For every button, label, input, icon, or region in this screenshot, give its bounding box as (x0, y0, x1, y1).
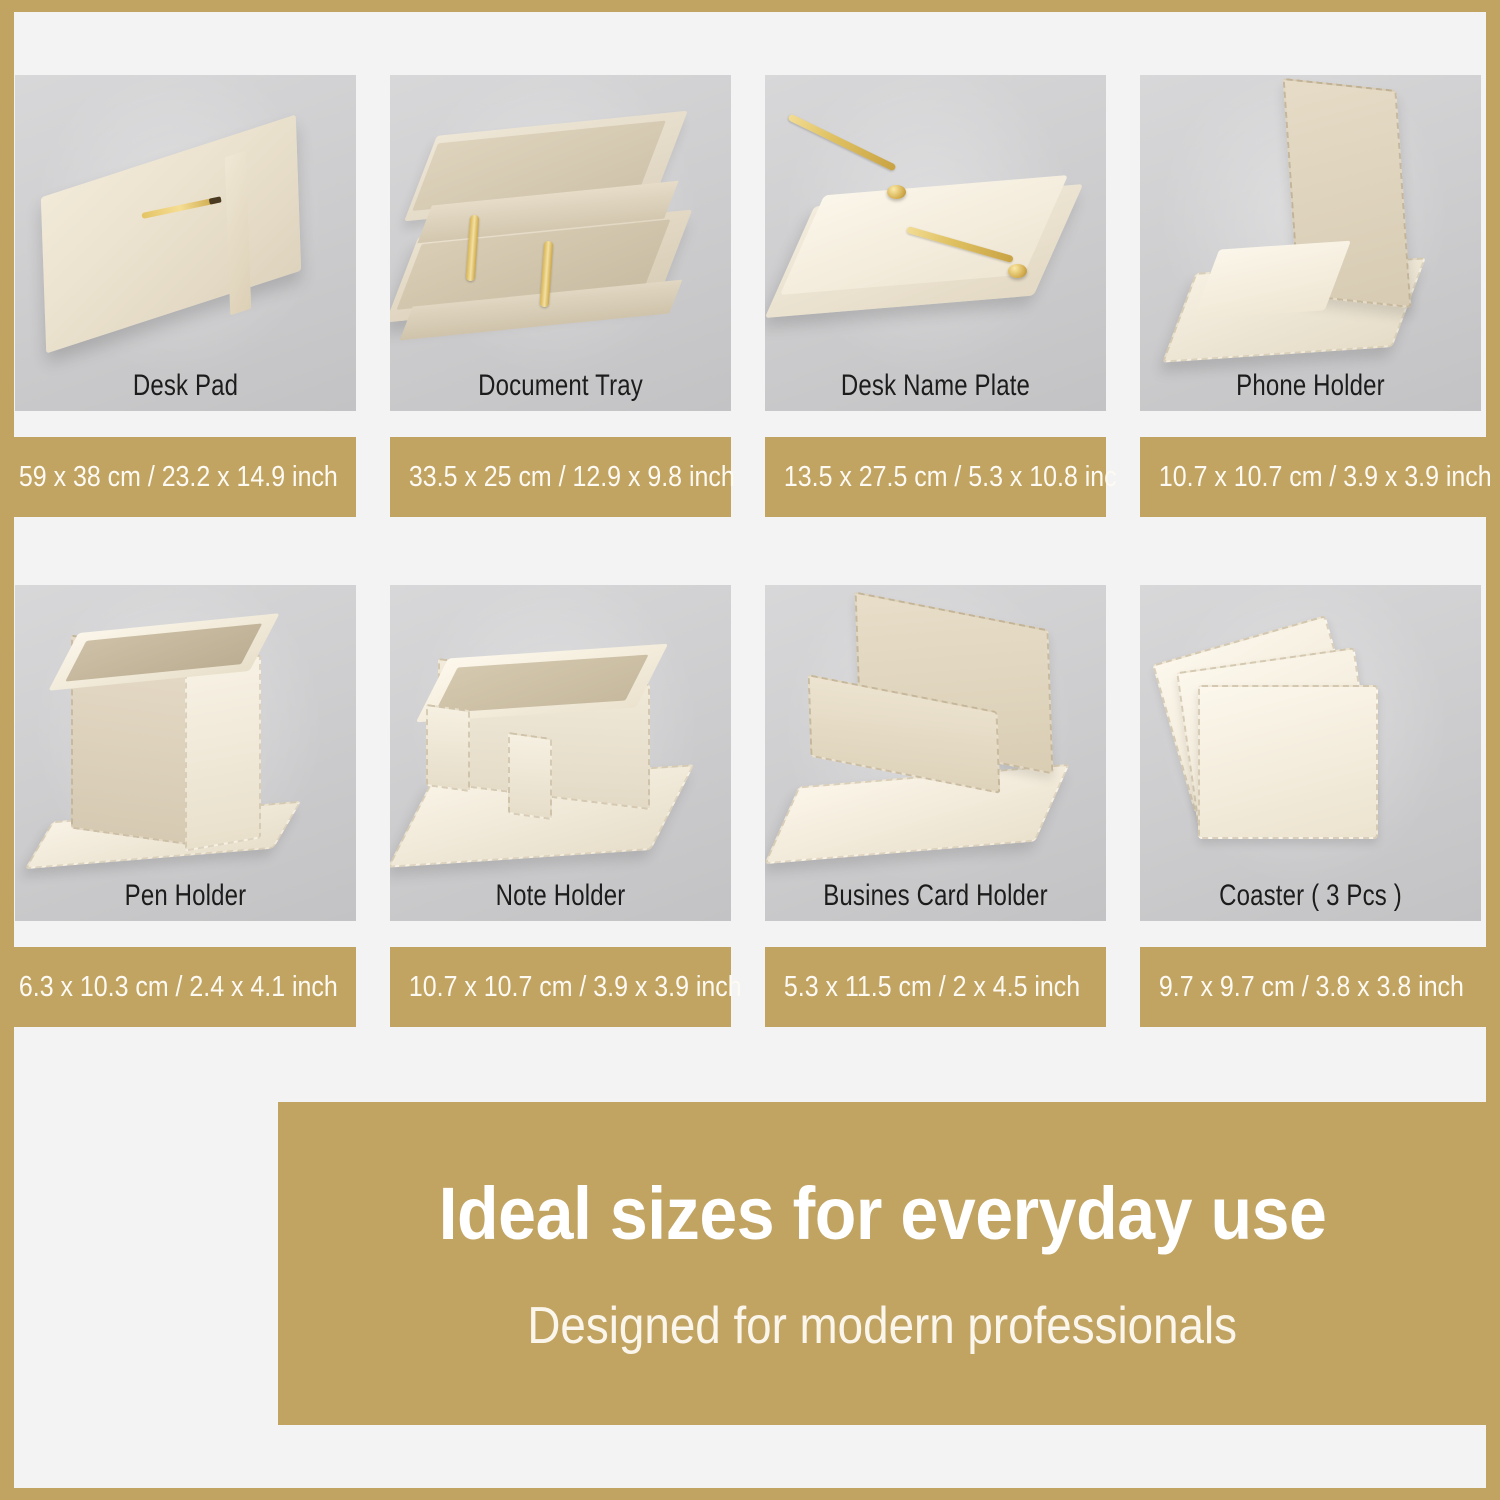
product-photo-pen-holder: Pen Holder (15, 585, 356, 921)
phone-holder-icon (1140, 75, 1481, 411)
product-size-bar-phone-holder: 10.7 x 10.7 cm / 3.9 x 3.9 inch (1140, 437, 1500, 517)
desk-pad-icon (15, 75, 356, 411)
product-size-text: 10.7 x 10.7 cm / 3.9 x 3.9 inch (390, 971, 702, 1004)
business-card-holder-icon (765, 585, 1106, 921)
product-label: Coaster ( 3 Pcs ) (1174, 879, 1447, 913)
product-label: Document Tray (424, 369, 697, 403)
product-size-text: 10.7 x 10.7 cm / 3.9 x 3.9 inch (1140, 461, 1469, 494)
product-photo-desk-pad: Desk Pad (15, 75, 356, 411)
note-holder-icon (390, 585, 731, 921)
promo-subhead: Designed for modern professionals (527, 1296, 1237, 1356)
product-size-bar-business-card-holder: 5.3 x 11.5 cm / 2 x 4.5 inch (765, 947, 1106, 1027)
product-label: Pen Holder (49, 879, 322, 913)
product-photo-coaster: Coaster ( 3 Pcs ) (1140, 585, 1481, 921)
product-photo-note-holder: Note Holder (390, 585, 731, 921)
product-size-text: 13.5 x 27.5 cm / 5.3 x 10.8 inc (765, 461, 1077, 494)
product-size-text: 33.5 x 25 cm / 12.9 x 9.8 inch (390, 461, 702, 494)
product-photo-phone-holder: Phone Holder (1140, 75, 1481, 411)
product-size-text: 5.3 x 11.5 cm / 2 x 4.5 inch (765, 971, 1077, 1004)
document-tray-icon (390, 75, 731, 411)
promo-headline: Ideal sizes for everyday use (438, 1171, 1326, 1256)
product-size-bar-note-holder: 10.7 x 10.7 cm / 3.9 x 3.9 inch (390, 947, 731, 1027)
product-label: Busines Card Holder (799, 879, 1072, 913)
product-photo-document-tray: Document Tray (390, 75, 731, 411)
product-label: Note Holder (424, 879, 697, 913)
product-size-text: 9.7 x 9.7 cm / 3.8 x 3.8 inch (1140, 971, 1464, 1004)
promo-banner: Ideal sizes for everyday use Designed fo… (278, 1102, 1486, 1425)
product-size-text: 6.3 x 10.3 cm / 2.4 x 4.1 inch (0, 971, 325, 1004)
infographic-page: Desk Pad 59 x 38 cm / 23.2 x 14.9 inch D… (0, 0, 1500, 1500)
pen-holder-icon (15, 585, 356, 921)
product-label: Phone Holder (1174, 369, 1447, 403)
product-label: Desk Pad (49, 369, 322, 403)
product-size-bar-desk-name-plate: 13.5 x 27.5 cm / 5.3 x 10.8 inc (765, 437, 1106, 517)
product-size-bar-coaster: 9.7 x 9.7 cm / 3.8 x 3.8 inch (1140, 947, 1500, 1027)
product-size-bar-desk-pad: 59 x 38 cm / 23.2 x 14.9 inch (0, 437, 356, 517)
product-photo-desk-name-plate: Desk Name Plate (765, 75, 1106, 411)
product-label: Desk Name Plate (799, 369, 1072, 403)
desk-name-plate-icon (765, 75, 1106, 411)
product-size-bar-pen-holder: 6.3 x 10.3 cm / 2.4 x 4.1 inch (0, 947, 356, 1027)
product-size-bar-document-tray: 33.5 x 25 cm / 12.9 x 9.8 inch (390, 437, 731, 517)
coaster-icon (1140, 585, 1481, 921)
product-photo-business-card-holder: Busines Card Holder (765, 585, 1106, 921)
product-size-text: 59 x 38 cm / 23.2 x 14.9 inch (0, 461, 325, 494)
